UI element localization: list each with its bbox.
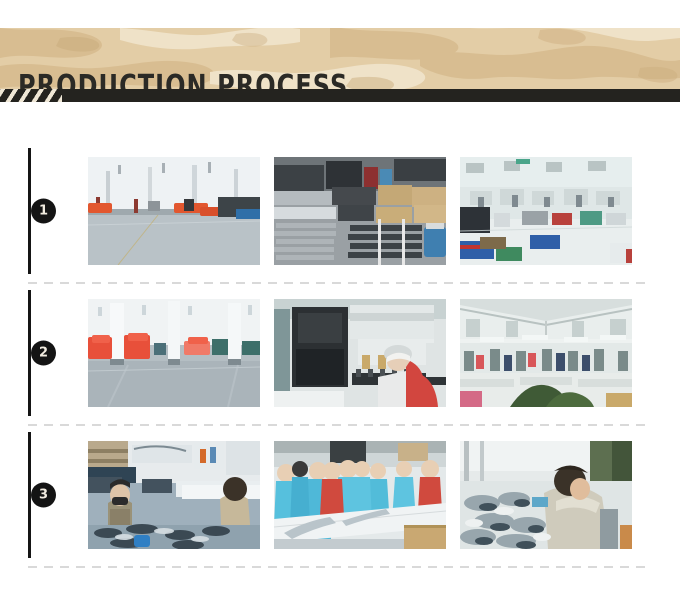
banner-bottom-bar bbox=[0, 89, 680, 102]
step-number-badge: 2 bbox=[31, 341, 56, 366]
step3-photo-1[interactable] bbox=[88, 441, 260, 549]
process-step-row: 3 bbox=[0, 424, 680, 566]
step3-photo-3[interactable] bbox=[460, 441, 632, 549]
dashed-line bbox=[28, 566, 646, 568]
step1-photo-3[interactable] bbox=[460, 157, 632, 265]
process-steps-list: 1 bbox=[0, 140, 680, 566]
step1-photo-1[interactable] bbox=[88, 157, 260, 265]
step2-photo-3[interactable] bbox=[460, 299, 632, 407]
step-photo-group bbox=[88, 299, 632, 407]
step-marker-column: 1 bbox=[0, 140, 88, 282]
step-marker-column: 2 bbox=[0, 282, 88, 424]
step-number-badge: 1 bbox=[31, 199, 56, 224]
page-banner: PRODUCTION PROCESS bbox=[0, 28, 680, 95]
step2-photo-2[interactable] bbox=[274, 299, 446, 407]
process-step-row: 2 bbox=[0, 282, 680, 424]
step3-photo-2[interactable] bbox=[274, 441, 446, 549]
process-step-row: 1 bbox=[0, 140, 680, 282]
step-photo-group bbox=[88, 157, 632, 265]
step-marker-column: 3 bbox=[0, 424, 88, 566]
step1-photo-2[interactable] bbox=[274, 157, 446, 265]
step2-photo-1[interactable] bbox=[88, 299, 260, 407]
step-photo-group bbox=[88, 441, 632, 549]
production-process-page: PRODUCTION PROCESS 1 bbox=[0, 0, 680, 607]
step-number-badge: 3 bbox=[31, 483, 56, 508]
